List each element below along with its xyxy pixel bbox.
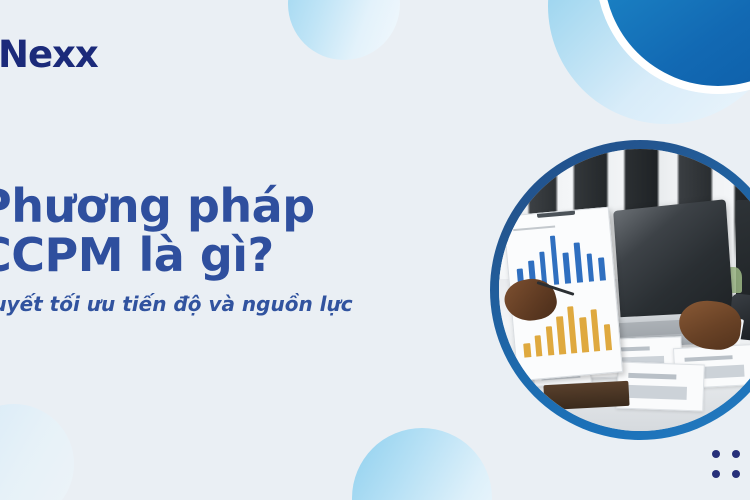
logo-wordmark: Nexx xyxy=(0,36,98,73)
hero-photo-ring xyxy=(490,140,750,440)
grid-dot xyxy=(712,450,720,458)
decorative-circle-top-center xyxy=(288,0,400,60)
headline-line-1: Phương pháp xyxy=(0,182,448,231)
logo-mark-icon xyxy=(0,35,2,73)
brand-logo[interactable]: Nexx xyxy=(0,30,98,78)
logo-wordmark-text: Nexx xyxy=(0,33,98,76)
banner-canvas: Nexx Phương pháp CCPM là gì? quyết tối ư… xyxy=(0,0,750,500)
grid-dot xyxy=(732,470,740,478)
headline-block: Phương pháp CCPM là gì? quyết tối ưu tiế… xyxy=(0,182,448,316)
subtitle-text: quyết tối ưu tiến độ và nguồn lực xyxy=(0,292,448,316)
decorative-circle-top-right-light xyxy=(548,0,750,124)
photo-notebook xyxy=(544,381,630,411)
decorative-dot-grid xyxy=(712,450,750,478)
decorative-circle-bottom-center xyxy=(352,428,492,500)
headline-line-2: CCPM là gì? xyxy=(0,231,448,280)
hero-photo xyxy=(499,149,750,431)
decorative-circle-top-right-dark xyxy=(604,0,750,86)
decorative-circle-left-bottom xyxy=(0,404,74,500)
decorative-circle-top-right-gap xyxy=(596,0,750,94)
photo-document xyxy=(617,362,705,412)
grid-dot xyxy=(732,450,740,458)
grid-dot xyxy=(712,470,720,478)
